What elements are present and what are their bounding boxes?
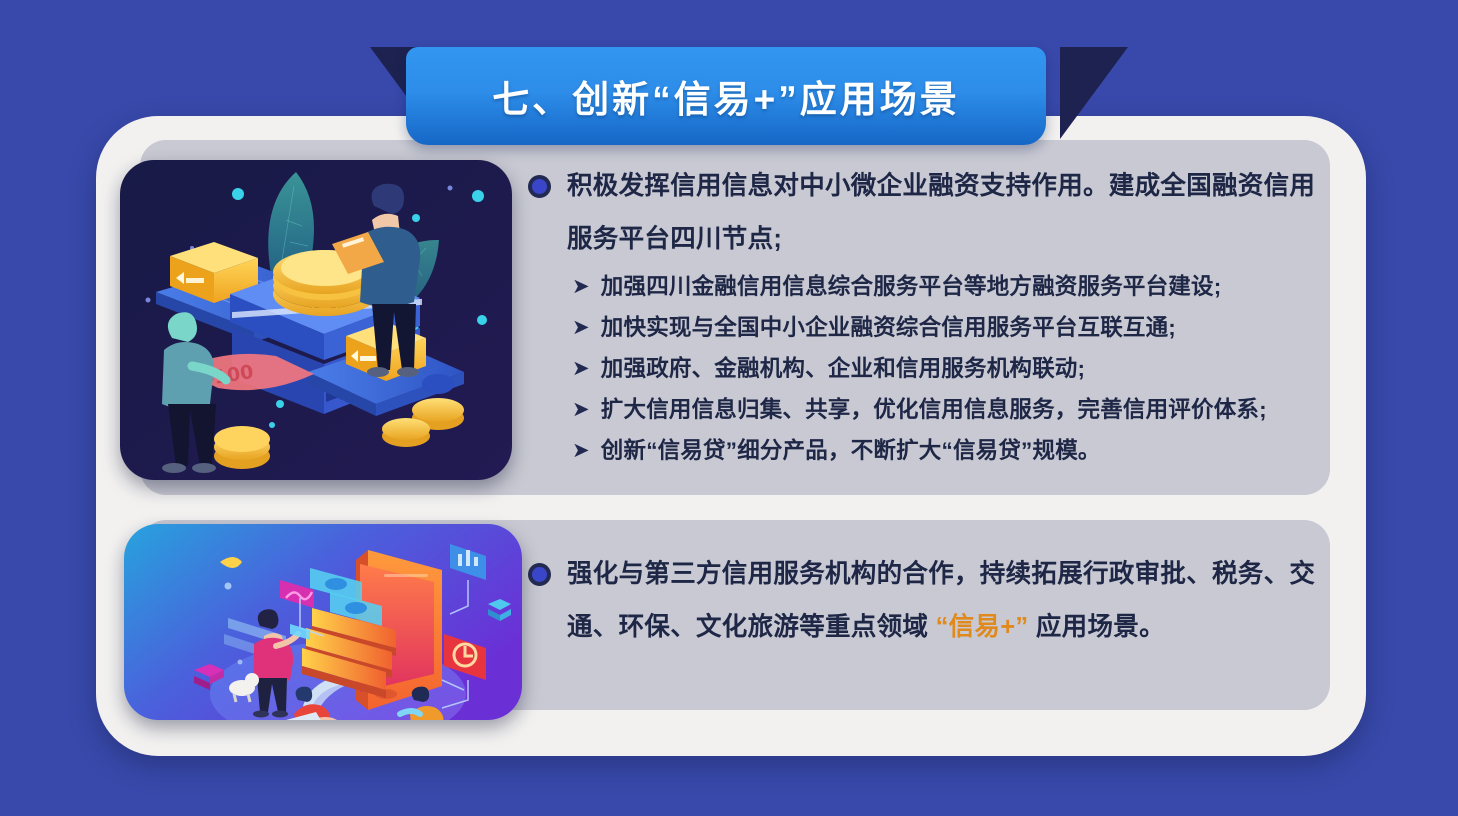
sub-item-text: 加快实现与全国中小企业融资综合信用服务平台互联互通; [601,307,1338,348]
banner-plate: 七、创新“信易+”应用场景 [406,47,1046,145]
page-title: 七、创新“信易+”应用场景 [492,69,960,123]
lead-text-scenarios: 强化与第三方信用服务机构的合作，持续拓展行政审批、税务、交通、环保、文化旅游等重… [567,548,1348,654]
arrow-bullet-icon: ➤ [572,307,590,348]
list-item: ➤ 加快实现与全国中小企业融资综合信用服务平台互联互通; [572,307,1338,348]
list-item: ➤ 加强政府、金融机构、企业和信用服务机构联动; [572,348,1338,389]
bullet-dot-icon [528,175,551,198]
highlight-xinyi-plus: “信易+” [936,613,1029,641]
isometric-mobile-wifi-icon [124,524,522,720]
lead-part-plain-2: 应用场景。 [1029,613,1165,641]
arrow-bullet-icon: ➤ [572,430,590,471]
sub-item-text: 加强四川金融信用信息综合服务平台等地方融资服务平台建设; [601,266,1338,307]
isometric-finance-conveyor-icon: ¥100 [120,160,512,480]
list-item: ➤ 扩大信用信息归集、共享，优化信用信息服务，完善信用评价体系; [572,389,1338,430]
illustration-finance-conveyor: ¥100 [120,160,512,480]
bullet-dot-icon [528,563,551,586]
arrow-bullet-icon: ➤ [572,348,590,389]
ribbon-tail-right-icon [1060,47,1128,139]
lead-bullet-scenarios: 强化与第三方信用服务机构的合作，持续拓展行政审批、税务、交通、环保、文化旅游等重… [528,548,1348,654]
text-block-scenarios: 强化与第三方信用服务机构的合作，持续拓展行政审批、税务、交通、环保、文化旅游等重… [528,548,1348,654]
lead-text-financing: 积极发挥信用信息对中小微企业融资支持作用。建成全国融资信用服务平台四川节点; [567,160,1338,266]
arrow-bullet-icon: ➤ [572,266,590,307]
slide-root: 七、创新“信易+”应用场景 [0,0,1458,816]
sub-item-text: 扩大信用信息归集、共享，优化信用信息服务，完善信用评价体系; [601,389,1338,430]
list-item: ➤ 创新“信易贷”细分产品，不断扩大“信易贷”规模。 [572,430,1338,471]
sub-item-text: 创新“信易贷”细分产品，不断扩大“信易贷”规模。 [601,430,1338,471]
lead-bullet-financing: 积极发挥信用信息对中小微企业融资支持作用。建成全国融资信用服务平台四川节点; [528,160,1338,266]
arrow-bullet-icon: ➤ [572,389,590,430]
text-block-financing: 积极发挥信用信息对中小微企业融资支持作用。建成全国融资信用服务平台四川节点; ➤… [528,160,1338,471]
sub-item-text: 加强政府、金融机构、企业和信用服务机构联动; [601,348,1338,389]
list-item: ➤ 加强四川金融信用信息综合服务平台等地方融资服务平台建设; [572,266,1338,307]
illustration-mobile-wifi [124,524,522,720]
title-banner: 七、创新“信易+”应用场景 [330,47,1168,152]
